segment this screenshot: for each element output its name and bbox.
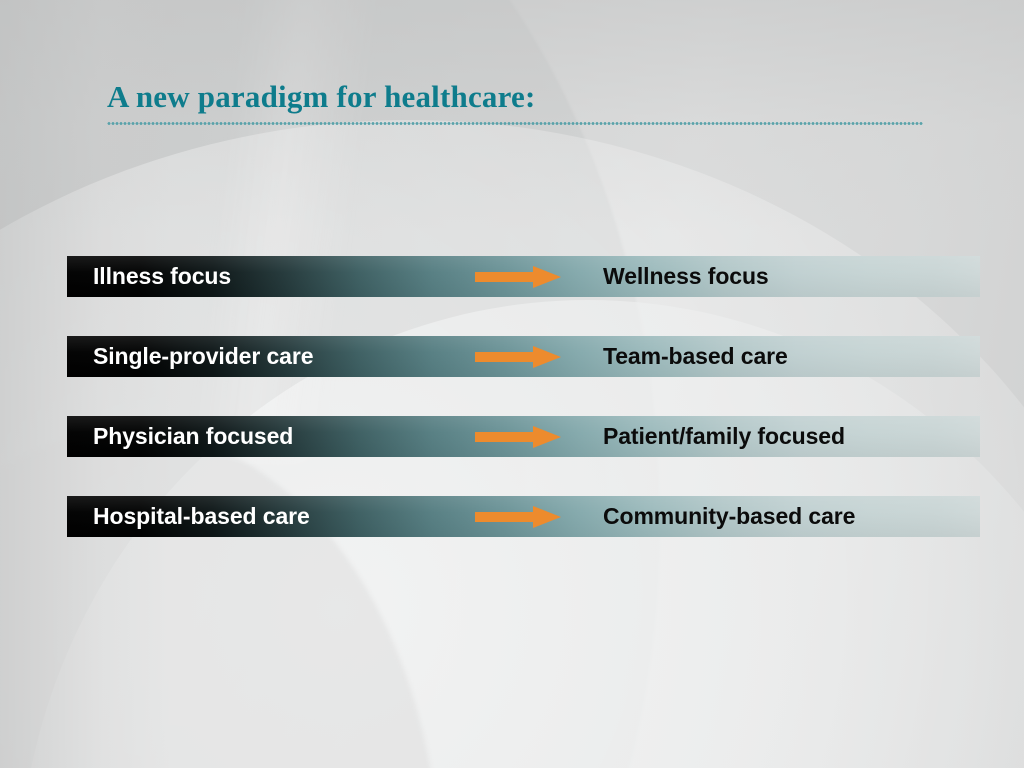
paradigm-row: Hospital-based care Community-based care (67, 496, 980, 537)
paradigm-row-list: Illness focus Wellness focus Single-prov… (0, 0, 1024, 768)
presentation-slide: A new paradigm for healthcare: Illness f… (0, 0, 1024, 768)
right-arrow-icon (475, 426, 561, 448)
paradigm-row: Illness focus Wellness focus (67, 256, 980, 297)
row-to-label: Wellness focus (603, 256, 769, 297)
right-arrow-icon (475, 266, 561, 288)
right-arrow-icon (475, 506, 561, 528)
paradigm-row: Physician focused Patient/family focused (67, 416, 980, 457)
row-from-label: Illness focus (93, 256, 231, 297)
row-from-label: Hospital-based care (93, 496, 310, 537)
row-from-label: Single-provider care (93, 336, 313, 377)
paradigm-row: Single-provider care Team-based care (67, 336, 980, 377)
row-to-label: Team-based care (603, 336, 788, 377)
right-arrow-icon (475, 346, 561, 368)
row-to-label: Patient/family focused (603, 416, 845, 457)
row-to-label: Community-based care (603, 496, 855, 537)
row-from-label: Physician focused (93, 416, 293, 457)
